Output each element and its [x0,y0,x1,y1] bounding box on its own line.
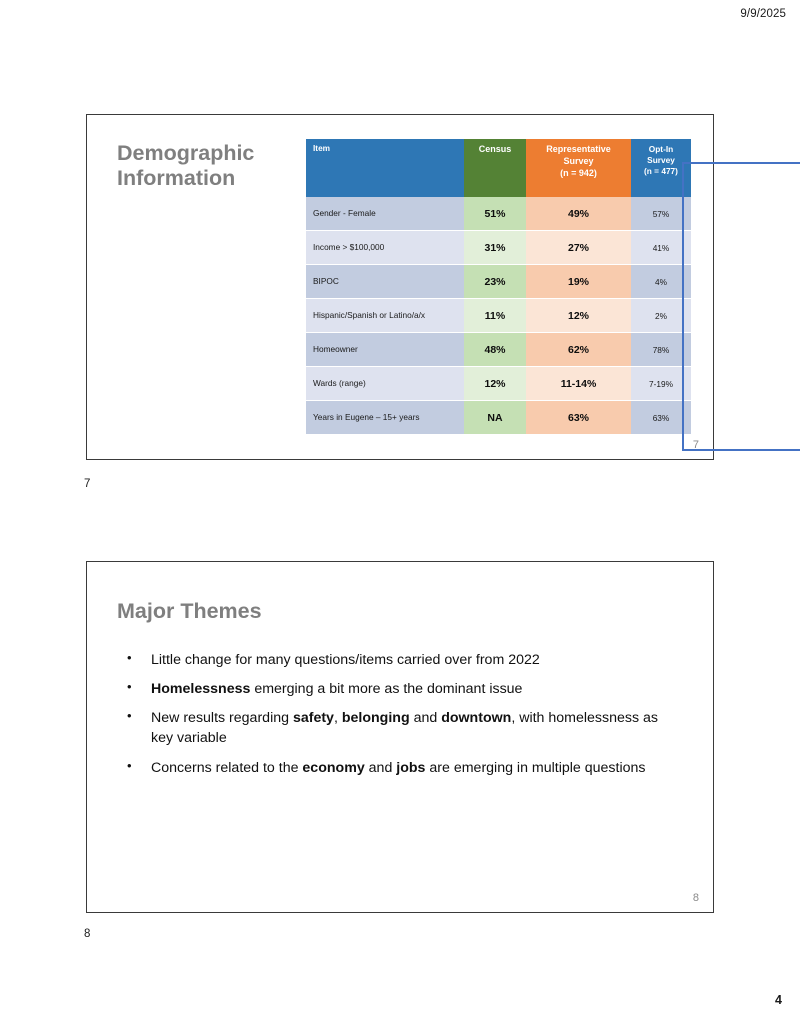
table-header-row: Item Census Representative Survey (n = 9… [306,139,691,197]
bullet-emphasis: jobs [396,760,425,776]
cell-item: Homeowner [306,333,464,367]
bullet-text: New results regarding [151,710,293,726]
bullet-emphasis: belonging [342,710,410,726]
column-header-representative-survey: Representative Survey (n = 942) [526,139,631,197]
bullet-emphasis: safety [293,710,334,726]
cell-item: Income > $100,000 [306,231,464,265]
column-header-optin-line2: Survey [631,155,691,166]
column-header-optin-survey: Opt-In Survey (n = 477) [631,139,691,197]
page-date: 9/9/2025 [740,8,786,20]
cell-item: Years in Eugene – 15+ years [306,401,464,435]
column-header-optin-line1: Opt-In [631,144,691,155]
column-header-optin-line3: (n = 477) [631,166,691,177]
cell-item: Wards (range) [306,367,464,401]
cell-representative: 63% [526,401,631,435]
column-header-representative-line3: (n = 942) [526,168,631,180]
cell-optin: 41% [631,231,691,265]
slide-demographic-information[interactable]: Demographic Information Item Census Repr… [86,114,714,460]
table-row: Years in Eugene – 15+ yearsNA63%63% [306,401,691,435]
cell-representative: 19% [526,265,631,299]
slide-number-inside: 8 [693,892,699,904]
handout-slide-label-8: 8 [84,928,90,940]
slide-number-inside: 7 [693,439,699,451]
column-header-census: Census [464,139,526,197]
survey-comparison-highlight-outline [682,162,800,451]
bullet-text: Concerns related to the [151,760,302,776]
demographic-table: Item Census Representative Survey (n = 9… [306,139,691,434]
bullet-emphasis: economy [302,760,364,776]
cell-representative: 27% [526,231,631,265]
table-row: Hispanic/Spanish or Latino/a/x11%12%2% [306,299,691,333]
table-row: Homeowner48%62%78% [306,333,691,367]
table-row: Income > $100,00031%27%41% [306,231,691,265]
cell-item: BIPOC [306,265,464,299]
cell-item: Hispanic/Spanish or Latino/a/x [306,299,464,333]
bullet-text: , [334,710,342,726]
cell-optin: 7-19% [631,367,691,401]
cell-optin: 4% [631,265,691,299]
bullet-text: and [365,760,397,776]
major-themes-bullet-list: Little change for many questions/items c… [119,650,679,787]
cell-census: 48% [464,333,526,367]
page-title: Demographic Information [117,141,307,192]
cell-census: NA [464,401,526,435]
demographic-table-container: Item Census Representative Survey (n = 9… [306,139,691,434]
list-item: Little change for many questions/items c… [119,650,679,670]
bullet-emphasis: Homelessness [151,681,250,697]
cell-optin: 78% [631,333,691,367]
cell-census: 31% [464,231,526,265]
handout-slide-label-7: 7 [84,478,90,490]
page-title: Major Themes [117,599,262,624]
bullet-emphasis: downtown [441,710,511,726]
cell-representative: 62% [526,333,631,367]
cell-representative: 12% [526,299,631,333]
list-item: Homelessness emerging a bit more as the … [119,679,679,699]
bullet-text: Little change for many questions/items c… [151,652,540,668]
page-number: 4 [775,993,782,1007]
cell-item: Gender - Female [306,197,464,231]
cell-optin: 57% [631,197,691,231]
list-item: New results regarding safety, belonging … [119,708,679,748]
cell-optin: 2% [631,299,691,333]
cell-census: 51% [464,197,526,231]
column-header-representative-line2: Survey [526,156,631,168]
cell-census: 11% [464,299,526,333]
bullet-text: are emerging in multiple questions [425,760,645,776]
slide-major-themes[interactable]: Major Themes Little change for many ques… [86,561,714,913]
cell-census: 12% [464,367,526,401]
cell-representative: 11-14% [526,367,631,401]
table-row: Wards (range)12%11-14%7-19% [306,367,691,401]
bullet-text: and [410,710,442,726]
column-header-item: Item [306,139,464,197]
cell-representative: 49% [526,197,631,231]
table-row: BIPOC23%19%4% [306,265,691,299]
bullet-text: emerging a bit more as the dominant issu… [250,681,522,697]
table-row: Gender - Female51%49%57% [306,197,691,231]
column-header-representative-line1: Representative [526,144,631,156]
cell-optin: 63% [631,401,691,435]
cell-census: 23% [464,265,526,299]
list-item: Concerns related to the economy and jobs… [119,758,679,778]
